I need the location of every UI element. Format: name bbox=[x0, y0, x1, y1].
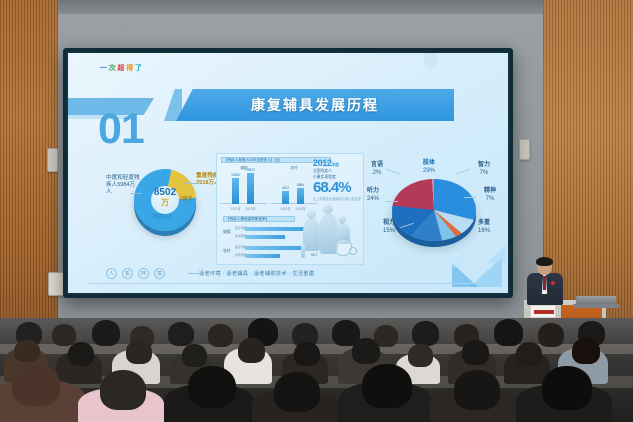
people-illustration bbox=[301, 200, 361, 262]
hbar-fill-urban-medical bbox=[245, 227, 307, 231]
logo-char-2: 超 bbox=[117, 63, 124, 73]
audience-head bbox=[208, 324, 233, 347]
deco-triangle-4 bbox=[448, 252, 464, 267]
ceiling-strip bbox=[0, 0, 633, 14]
audience-head bbox=[92, 320, 120, 346]
person-body-1 bbox=[303, 219, 320, 251]
footer-text: ——适老环境 · 适老辅具 · 适老辅助技术 · 生活重建 bbox=[188, 270, 314, 277]
logo-char-1: 次 bbox=[109, 63, 116, 73]
audience-head bbox=[238, 338, 265, 363]
wall-switch-left bbox=[47, 148, 58, 172]
footer-divider bbox=[88, 283, 488, 284]
audience-head bbox=[188, 366, 236, 408]
bar-group-urban: 城镇 13000 2010年 15672 2012年 bbox=[221, 166, 267, 212]
audience-head bbox=[494, 319, 523, 346]
hbar-fill-rural-pension bbox=[245, 254, 280, 258]
presentation-screen: 一 次 超 得 了 01 康复辅具发展历程 8502 万 bbox=[63, 48, 513, 298]
donut-pct-severe: 2成多 bbox=[180, 195, 193, 202]
brand-logo: 一 次 超 得 了 bbox=[100, 63, 142, 73]
stat-year: 2012 bbox=[313, 158, 331, 168]
pie-label-multiple: 多重 16% bbox=[470, 219, 498, 235]
audience-head bbox=[462, 340, 489, 365]
bar-value-urban-2012: 15672 bbox=[242, 168, 259, 172]
pie-body bbox=[392, 179, 476, 241]
lecture-hall-photo: 一 次 超 得 了 01 康复辅具发展历程 8502 万 bbox=[0, 0, 633, 422]
slide-title-banner: 康复辅具发展历程 bbox=[176, 89, 454, 121]
audience-head bbox=[572, 338, 600, 364]
stat-value: 68.4% bbox=[313, 180, 363, 195]
audience-head bbox=[538, 323, 564, 347]
person-head-3 bbox=[338, 216, 346, 224]
stat-caption-1: 全国残疾人 bbox=[313, 169, 363, 174]
section-number: 01 bbox=[98, 108, 144, 151]
audience-head bbox=[408, 344, 433, 367]
walking-cane bbox=[301, 244, 305, 258]
donut-leader-right bbox=[184, 183, 198, 184]
bar-value-urban-2010: 13000 bbox=[227, 173, 244, 177]
stat-year-row: 2012年度 bbox=[313, 158, 363, 168]
pie-label-mental: 精神 7% bbox=[476, 187, 504, 203]
slide-top-tab bbox=[424, 53, 438, 69]
audience-head bbox=[12, 364, 60, 406]
pie-value-physical: 29 bbox=[423, 168, 430, 174]
hbar-fill-rural-medical bbox=[245, 246, 309, 250]
audience-head bbox=[516, 342, 542, 366]
pie-leader-mental bbox=[464, 197, 476, 198]
person-head-1 bbox=[307, 210, 316, 219]
audience-head bbox=[100, 370, 146, 410]
pie-value-multiple: 16 bbox=[478, 228, 485, 234]
infographic-card: 【残疾人家庭人均可支配收入】(元) 城镇 13000 2010年 15672 2… bbox=[216, 153, 364, 265]
audience-head bbox=[182, 344, 207, 367]
audience-head bbox=[68, 342, 94, 366]
audience-head bbox=[542, 366, 592, 410]
name-placard-text bbox=[534, 310, 554, 314]
audience bbox=[0, 318, 633, 422]
pie-value-intellectual: 7 bbox=[480, 170, 483, 176]
footer-icon-person: 人 bbox=[106, 268, 117, 279]
audience-head bbox=[14, 340, 40, 362]
audience-head bbox=[294, 342, 320, 366]
pie-value-mental: 7 bbox=[486, 196, 489, 202]
logo-char-0: 一 bbox=[100, 63, 107, 73]
bar-rural-2010: 4872 2010年 bbox=[282, 191, 289, 204]
pie-value-hearing: 24 bbox=[367, 196, 374, 202]
pie-label-vision: 视力 15% bbox=[376, 219, 402, 235]
bar-cat-urban-2012: 2012年 bbox=[242, 206, 259, 211]
footer-icon-machine: 机 bbox=[122, 268, 133, 279]
pie-label-physical: 肢体 29% bbox=[415, 159, 443, 175]
stat-panel: 2012年度 全国残疾人 小康实现程度 68.4% 比上年提高全面建成小康社会进… bbox=[313, 158, 363, 201]
wall-switch-right bbox=[519, 139, 530, 160]
audience-head bbox=[52, 324, 76, 346]
bar-urban-2010: 13000 2010年 bbox=[232, 178, 239, 204]
audience-head bbox=[412, 321, 439, 346]
audience-head bbox=[168, 322, 194, 346]
name-placard bbox=[530, 305, 556, 318]
presenter-tie bbox=[543, 276, 546, 290]
slide-content: 一 次 超 得 了 01 康复辅具发展历程 8502 万 bbox=[68, 53, 508, 293]
bar-urban-2012: 15672 2012年 bbox=[247, 173, 254, 204]
wheelchair-caster bbox=[349, 247, 357, 255]
logo-char-3: 得 bbox=[126, 63, 133, 73]
audience-head bbox=[362, 364, 412, 408]
footer-icon-environment: 境 bbox=[154, 268, 165, 279]
bar-axis-urban bbox=[221, 203, 267, 204]
footer-icon-group: 人 机 环 境 bbox=[106, 268, 165, 279]
person-head-2 bbox=[323, 204, 333, 214]
logo-char-4: 了 bbox=[135, 63, 142, 73]
presenter-badge bbox=[551, 281, 555, 285]
audience-head bbox=[126, 340, 152, 364]
bar-value-rural-2012: 5884 bbox=[292, 183, 309, 187]
pie-value-speech: 2 bbox=[373, 170, 376, 176]
pie-label-hearing: 听力 24% bbox=[360, 187, 386, 203]
stat-year-suffix: 年度 bbox=[331, 162, 338, 167]
presenter-hair bbox=[536, 257, 553, 266]
horizontal-bars-title: 【残疾人基础保障覆盖率】 bbox=[223, 216, 295, 222]
presenter bbox=[527, 258, 563, 304]
pie-leader-intellectual bbox=[456, 169, 470, 174]
audience-head bbox=[454, 370, 500, 410]
pie-label-intellectual: 智力 7% bbox=[470, 161, 498, 177]
hbar-fill-urban-pension bbox=[245, 235, 285, 239]
deco-triangle-3 bbox=[486, 245, 506, 263]
donut-chart: 8502 万 中度和轻度残疾人5984万人 重度残疾残2518万人 7成3以上 … bbox=[108, 161, 218, 241]
donut-pct-mild: 7成3以上 bbox=[152, 213, 173, 220]
audience-head bbox=[274, 372, 320, 412]
slide-title: 康复辅具发展历程 bbox=[251, 95, 379, 115]
bar-group-label-rural: 农村 bbox=[271, 166, 317, 171]
laptop-base bbox=[573, 304, 619, 308]
pie-leader-hearing bbox=[386, 201, 398, 202]
donut-leader-left bbox=[130, 193, 142, 194]
audience-head bbox=[352, 338, 380, 364]
pie-value-vision: 15 bbox=[383, 228, 390, 234]
footer-icon-ring: 环 bbox=[138, 268, 149, 279]
